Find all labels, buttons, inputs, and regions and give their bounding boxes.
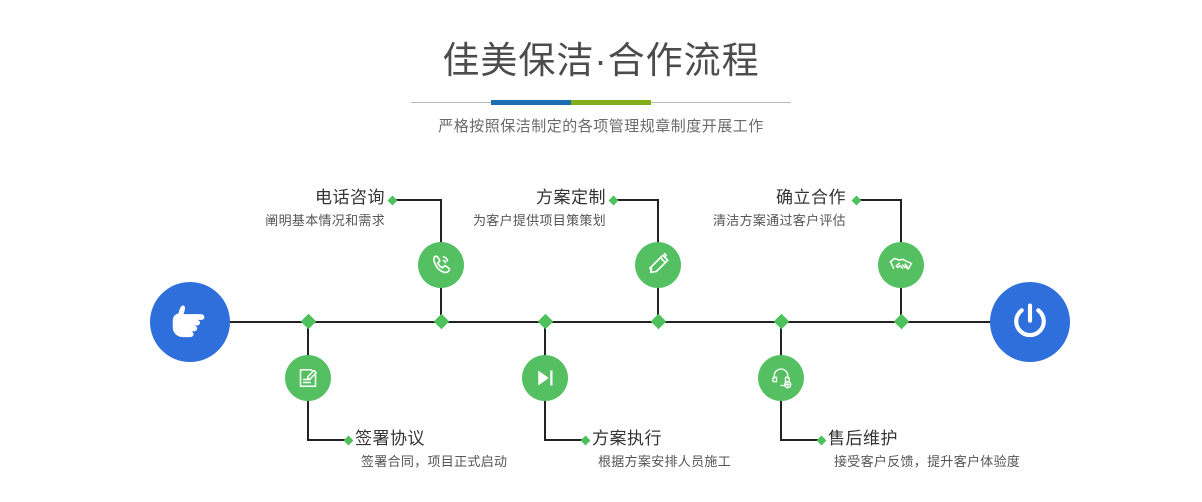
timeline-start-endpoint[interactable] <box>150 282 230 362</box>
step-label-3: 方案定制 为客户提供项目策策划 <box>340 186 606 231</box>
step-label-4: 方案执行 根据方案安排人员施工 <box>592 427 862 472</box>
connector-horizontal-step-3 <box>614 199 659 201</box>
play-next-icon <box>533 366 557 390</box>
divider-segment-blue <box>491 100 571 105</box>
phone-call-icon <box>428 252 454 278</box>
axis-marker-step-2 <box>301 314 317 330</box>
axis-marker-step-3 <box>651 314 667 330</box>
title-divider <box>411 98 791 108</box>
axis-marker-step-6 <box>774 314 790 330</box>
step-desc-3: 为客户提供项目策策划 <box>340 210 606 231</box>
timeline-end-endpoint[interactable] <box>990 282 1070 362</box>
node-icon-step-3[interactable] <box>635 242 681 288</box>
node-icon-step-4[interactable] <box>522 355 568 401</box>
page-title: 佳美保洁·合作流程 <box>0 0 1202 84</box>
step-label-5: 确立合作 清洁方案通过客户评估 <box>580 186 846 231</box>
connector-horizontal-step-5 <box>857 199 902 201</box>
customer-service-add-icon <box>769 366 793 390</box>
axis-marker-step-1 <box>434 314 450 330</box>
divider-segment-green <box>571 100 651 105</box>
step-title-3: 方案定制 <box>340 186 606 210</box>
page-subtitle: 严格按照保洁制定的各项管理规章制度开展工作 <box>0 108 1202 138</box>
connector-horizontal-step-1 <box>392 199 442 201</box>
step-label-6: 售后维护 接受客户反馈，提升客户体验度 <box>828 427 1118 472</box>
flow-diagram-page: 佳美保洁·合作流程 严格按照保洁制定的各项管理规章制度开展工作 <box>0 0 1202 502</box>
pointing-hand-icon <box>167 299 213 345</box>
node-icon-step-2[interactable] <box>285 355 331 401</box>
step-title-5: 确立合作 <box>580 186 846 210</box>
label-marker-step-2 <box>344 436 354 446</box>
label-marker-step-5 <box>852 196 862 206</box>
node-icon-step-6[interactable] <box>758 355 804 401</box>
step-desc-4: 根据方案安排人员施工 <box>592 451 862 472</box>
document-edit-icon <box>296 366 320 390</box>
axis-marker-step-4 <box>538 314 554 330</box>
step-desc-5: 清洁方案通过客户评估 <box>580 210 846 231</box>
step-desc-6: 接受客户反馈，提升客户体验度 <box>828 451 1118 472</box>
step-desc-2: 签署合同，项目正式启动 <box>355 451 625 472</box>
node-icon-step-1[interactable] <box>418 242 464 288</box>
axis-marker-step-5 <box>894 314 910 330</box>
handshake-icon <box>888 252 914 278</box>
step-label-2: 签署协议 签署合同，项目正式启动 <box>355 427 625 472</box>
power-icon <box>1008 300 1052 344</box>
pencil-design-icon <box>645 252 671 278</box>
node-icon-step-5[interactable] <box>878 242 924 288</box>
page-header: 佳美保洁·合作流程 严格按照保洁制定的各项管理规章制度开展工作 <box>0 0 1202 138</box>
step-title-6: 售后维护 <box>828 427 1118 451</box>
